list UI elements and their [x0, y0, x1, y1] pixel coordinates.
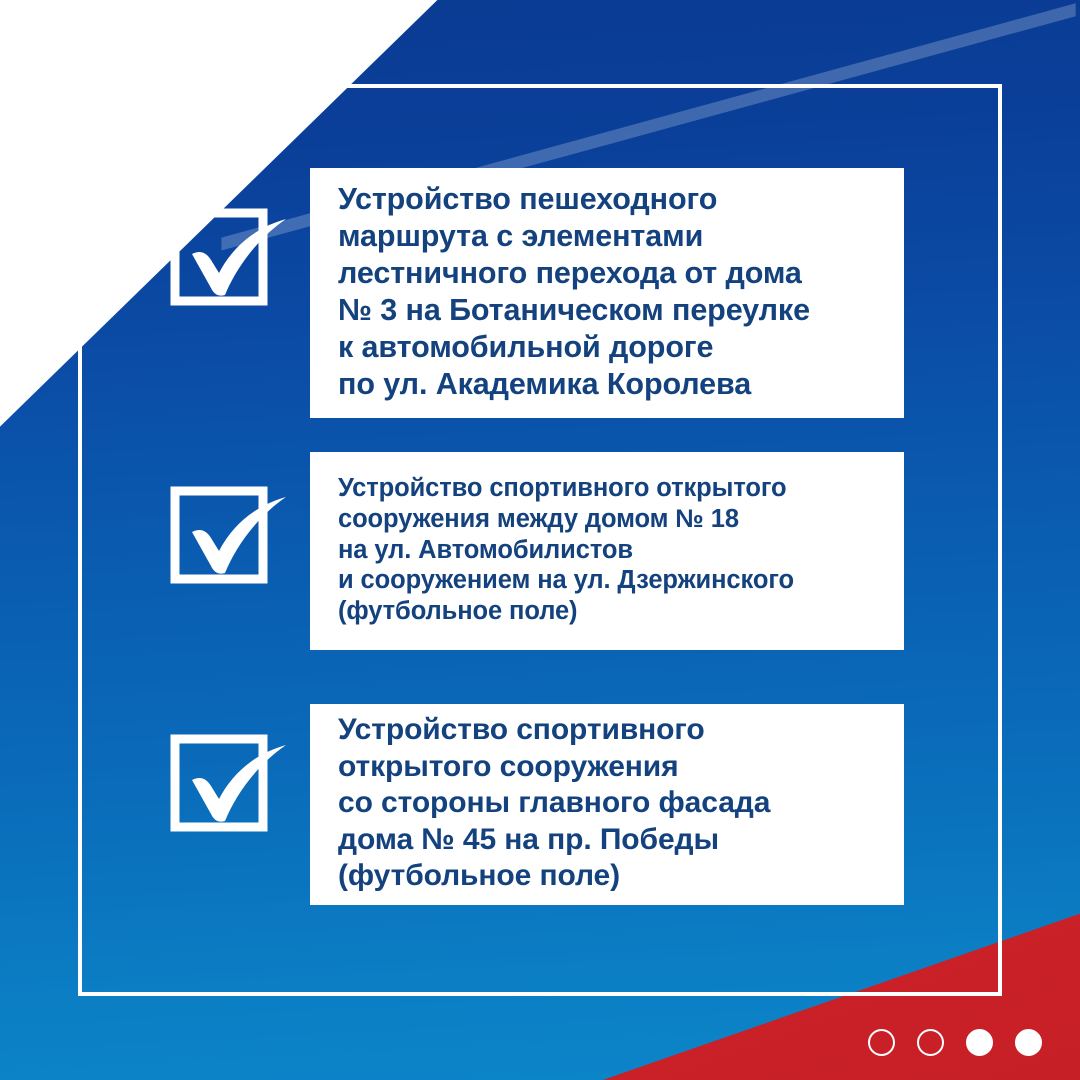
list-item: Устройство спортивного открытого сооруже…	[170, 704, 904, 905]
checkbox-checked-icon[interactable]	[170, 206, 268, 304]
slide-root: Устройство пешеходного маршрута с элемен…	[0, 0, 1080, 1080]
pagination-dots[interactable]	[868, 1029, 1042, 1056]
list-item: Устройство спортивного открытого сооруже…	[170, 452, 904, 650]
list-item: Устройство пешеходного маршрута с элемен…	[170, 168, 904, 418]
card-text: Устройство спортивного открытого сооруже…	[338, 473, 794, 628]
card-text: Устройство спортивного открытого сооруже…	[338, 712, 770, 894]
checkbox-checked-icon[interactable]	[170, 732, 268, 830]
pagination-dot-3[interactable]	[966, 1029, 993, 1056]
card: Устройство пешеходного маршрута с элемен…	[310, 168, 904, 418]
pagination-dot-4[interactable]	[1015, 1029, 1042, 1056]
checklist: Устройство пешеходного маршрута с элемен…	[0, 0, 1080, 1080]
pagination-dot-2[interactable]	[917, 1029, 944, 1056]
card: Устройство спортивного открытого сооруже…	[310, 704, 904, 905]
checkbox-checked-icon[interactable]	[170, 484, 268, 582]
pagination-dot-1[interactable]	[868, 1029, 895, 1056]
card-text: Устройство пешеходного маршрута с элемен…	[338, 181, 810, 403]
card: Устройство спортивного открытого сооруже…	[310, 452, 904, 650]
